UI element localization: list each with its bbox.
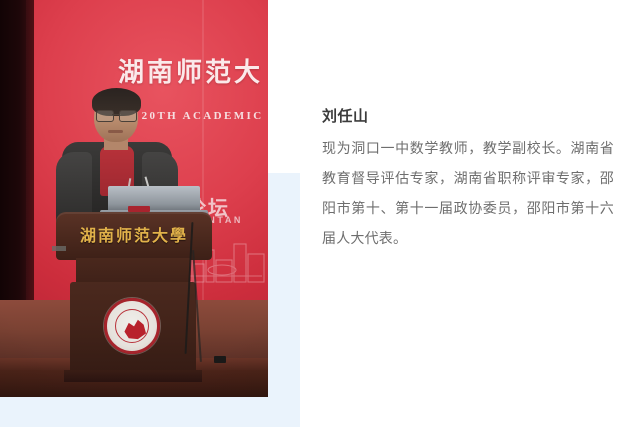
person-description: 现为洞口一中数学教师，教学副校长。湖南省教育督导评估专家，湖南省职称评审专家，邵… [322,134,614,254]
emblem-mark [123,318,147,340]
glasses-lens-right [119,110,137,122]
glasses-lens-left [96,110,114,122]
photo-content: 湖南师范大 THE 20TH ACADEMIC A 论坛 NLUNTAN [0,0,268,397]
floor-equipment-box [214,356,226,363]
laptop-screen [108,186,200,212]
podium-name-plate-text: 湖南师范大學 [68,222,200,242]
biography-block: 刘任山 现为洞口一中数学教师，教学副校长。湖南省教育督导评估专家，湖南省职称评审… [322,104,614,254]
page-root: 湖南师范大 THE 20TH ACADEMIC A 论坛 NLUNTAN [0,0,638,427]
university-emblem-icon [104,298,160,354]
person-name: 刘任山 [322,104,614,128]
speaker-photo[interactable]: 湖南师范大 THE 20TH ACADEMIC A 论坛 NLUNTAN [0,0,268,397]
podium-side-plate [52,246,66,251]
speaker-mouth [108,130,123,133]
podium-neck [76,258,190,284]
glasses-icon [96,110,137,120]
banner-title-text: 湖南师范大 [118,52,263,89]
